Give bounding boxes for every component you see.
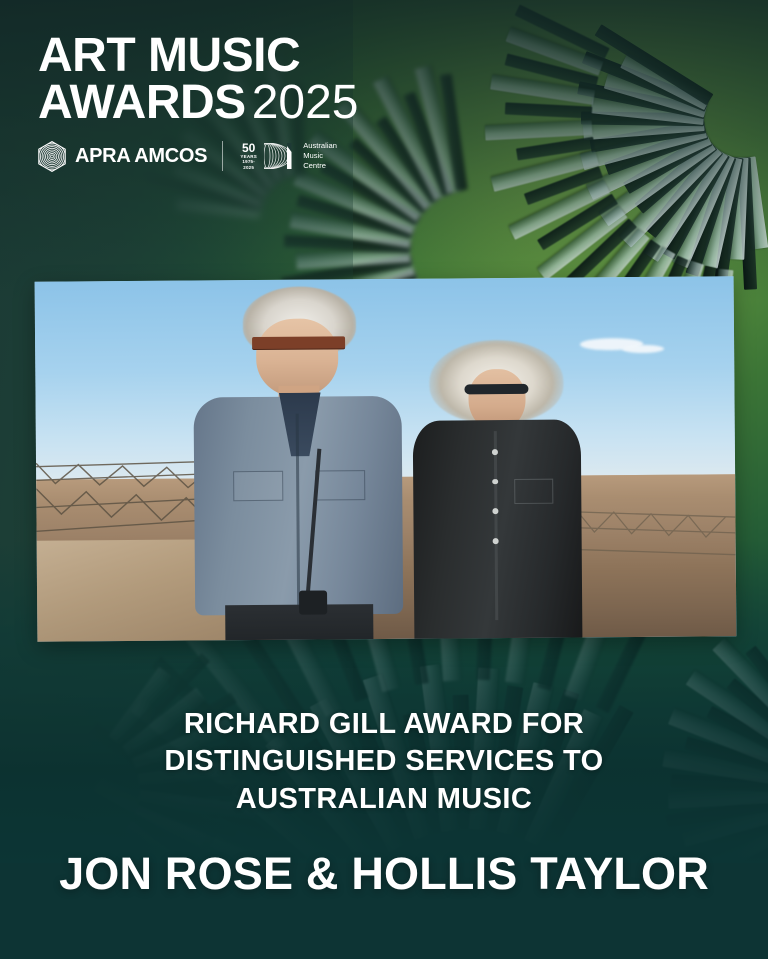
amc-word-line-2: Music xyxy=(303,151,323,160)
photo-person-right xyxy=(413,342,583,638)
amc-badge-number: 50 xyxy=(238,142,259,154)
person-right-shirt-button xyxy=(492,479,497,485)
award-title-block: RICHARD GILL AWARD FOR DISTINGUISHED SER… xyxy=(0,706,768,818)
person-left-sunglasses xyxy=(252,337,345,350)
person-right-shirt-pocket xyxy=(514,478,553,504)
logo-divider xyxy=(222,141,223,171)
person-right-shirt-button xyxy=(493,538,498,544)
amc-50-years-badge: 50 YEARS 1975-2025 xyxy=(238,142,259,171)
person-right-shirt xyxy=(413,419,583,642)
apra-amcos-wordmark: APRA AMCOS xyxy=(75,145,207,168)
australian-music-centre-icon xyxy=(264,143,298,169)
person-right-shirt-button xyxy=(493,508,498,514)
page-title-line-1: ART MUSIC xyxy=(38,34,478,79)
australian-music-centre-wordmark: Australian Music Centre xyxy=(303,141,337,172)
person-right-sunglasses xyxy=(465,384,529,394)
header-lockup: ART MUSIC AWARDS2025 xyxy=(38,34,478,173)
person-left-camera xyxy=(299,590,327,615)
sponsor-logo-row: APRA AMCOS 50 YEARS 1975-2025 xyxy=(38,139,478,173)
award-recipients: JON ROSE & HOLLIS TAYLOR xyxy=(0,848,768,900)
amc-badge-dates: 1975-2025 xyxy=(238,159,259,170)
amc-word-line-3: Centre xyxy=(303,161,326,170)
person-left-shirt-pocket xyxy=(233,470,283,501)
award-title-line-2: DISTINGUISHED SERVICES TO xyxy=(44,743,724,780)
apra-amcos-logo: APRA AMCOS xyxy=(38,141,207,172)
amc-word-line-1: Australian xyxy=(303,141,337,150)
photo-content xyxy=(35,276,737,641)
australian-music-centre-logo: 50 YEARS 1975-2025 xyxy=(238,141,337,172)
person-right-shirt-button xyxy=(492,449,497,455)
art-music-awards-poster: ART MUSIC AWARDS2025 xyxy=(0,0,768,959)
person-left-shirt-pocket xyxy=(316,470,366,501)
page-title-year: 2025 xyxy=(252,76,359,129)
page-title-line-2: AWARDS2025 xyxy=(38,81,478,126)
award-title-line-1: RICHARD GILL AWARD FOR xyxy=(44,706,724,743)
apra-amcos-hexagon-icon xyxy=(38,141,66,172)
page-title-awards-word: AWARDS xyxy=(38,76,246,129)
recipient-photo xyxy=(35,276,737,641)
photo-person-left xyxy=(188,286,407,640)
award-title-line-3: AUSTRALIAN MUSIC xyxy=(44,781,724,818)
